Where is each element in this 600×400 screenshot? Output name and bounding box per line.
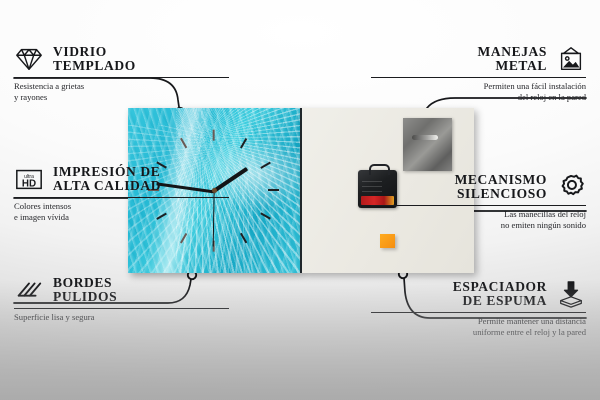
feature-title: BORDES PULIDOS <box>53 276 117 305</box>
feature-desc: Permiten una fácil instalación del reloj… <box>371 81 586 102</box>
feature-rule <box>14 197 229 198</box>
infographic-canvas: VIDRIO TEMPLADO Resistencia a grietas y … <box>0 0 600 400</box>
feature-head: MANEJAS METAL <box>371 44 586 74</box>
svg-text:HD: HD <box>22 179 36 190</box>
feature-title: MANEJAS METAL <box>478 45 547 74</box>
feature-mecanismo-silencioso: MECANISMO SILENCIOSO Las manecillas del … <box>371 172 586 231</box>
diamond-icon <box>14 44 44 74</box>
feature-rule <box>371 205 586 206</box>
picture-frame-hanging-icon <box>556 44 586 74</box>
feature-head: VIDRIO TEMPLADO <box>14 44 229 74</box>
feature-vidrio-templado: VIDRIO TEMPLADO Resistencia a grietas y … <box>14 44 229 103</box>
feature-rule <box>14 308 229 309</box>
feature-desc: Las manecillas del reloj no emiten ningú… <box>371 209 586 230</box>
feature-head: ESPACIADOR DE ESPUMA <box>371 279 586 309</box>
feature-title: ESPACIADOR DE ESPUMA <box>453 280 547 309</box>
feature-rule <box>371 312 586 313</box>
feature-title: IMPRESIÓN DE ALTA CALIDAD <box>53 165 161 194</box>
feature-title: MECANISMO SILENCIOSO <box>455 173 547 202</box>
feature-head: ultra HD IMPRESIÓN DE ALTA CALIDAD <box>14 164 229 194</box>
hanger-slot <box>412 135 438 140</box>
feature-bordes-pulidos: BORDES PULIDOS Superficie lisa y segura <box>14 275 229 323</box>
foam-spacer <box>380 234 395 248</box>
feature-impresion-alta-calidad: ultra HD IMPRESIÓN DE ALTA CALIDAD Color… <box>14 164 229 223</box>
ultra-hd-icon: ultra HD <box>14 164 44 194</box>
clock-tick-12 <box>212 130 214 141</box>
feature-desc: Resistencia a grietas y rayones <box>14 81 229 102</box>
feature-head: MECANISMO SILENCIOSO <box>371 172 586 202</box>
feature-desc: Superficie lisa y segura <box>14 312 229 323</box>
feature-desc: Colores intensos e imagen vívida <box>14 201 229 222</box>
feature-rule <box>371 77 586 78</box>
feature-espaciador-espuma: ESPACIADOR DE ESPUMA Permite mantener un… <box>371 279 586 338</box>
feature-title: VIDRIO TEMPLADO <box>53 45 136 74</box>
feature-desc: Permite mantener una distancia uniforme … <box>371 316 586 337</box>
gear-icon <box>556 172 586 202</box>
feature-manejas-metal: MANEJAS METAL Permiten una fácil instala… <box>371 44 586 103</box>
feature-rule <box>14 77 229 78</box>
polished-edges-icon <box>14 275 44 305</box>
down-arrow-stack-icon <box>556 279 586 309</box>
feature-head: BORDES PULIDOS <box>14 275 229 305</box>
metal-hanger-plate <box>403 118 452 171</box>
clock-tick-3 <box>268 189 279 191</box>
